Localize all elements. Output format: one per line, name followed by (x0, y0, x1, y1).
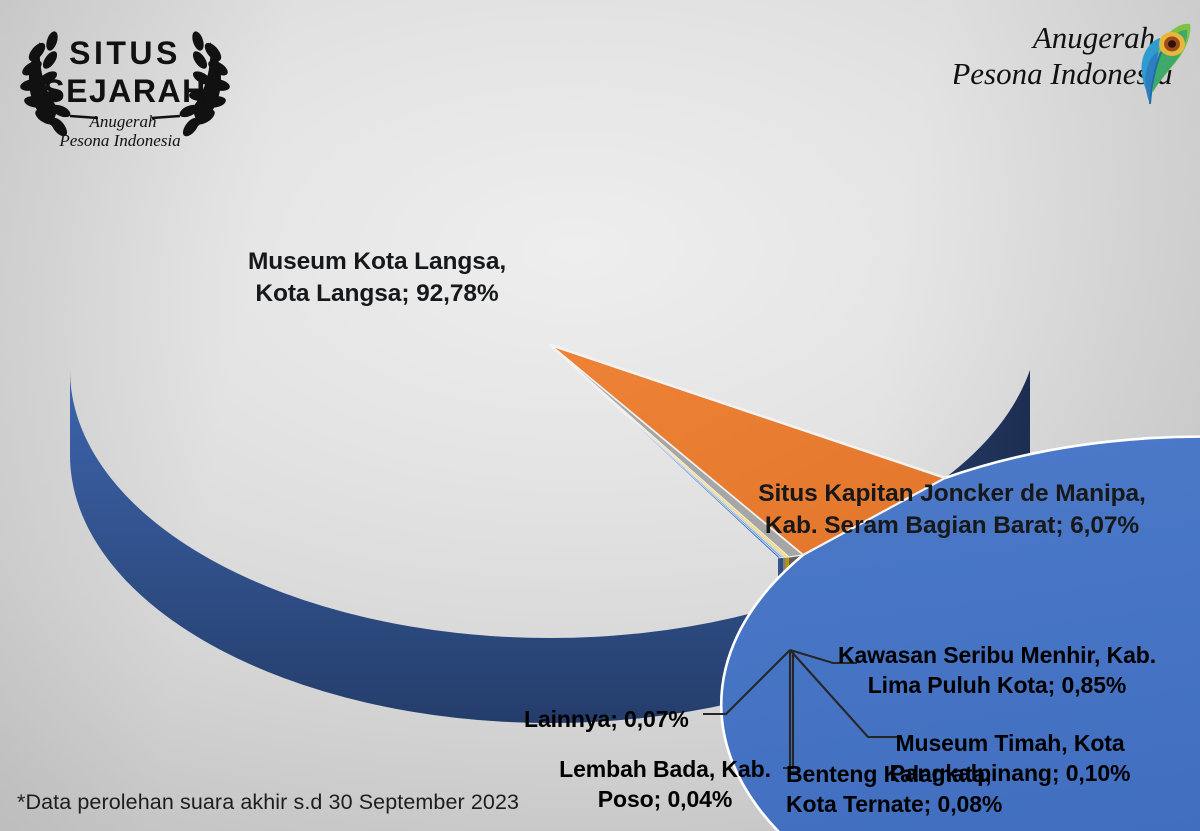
data-label-lembah-bada: Lembah Bada, Kab. Poso; 0,04% (545, 755, 785, 815)
logo-script-1: Anugerah (88, 112, 156, 131)
apl-script-2: Pesona Indonesia (954, 56, 1173, 91)
situs-sejarah-logo: SITUS SEJARAH Anugerah Pesona Indonesia (10, 8, 240, 153)
anugerah-pesona-indonesia-logo: Anugerah Pesona Indonesia (954, 4, 1194, 112)
data-label-lainnya: Lainnya; 0,07% (524, 705, 724, 735)
logo-script-2: Pesona Indonesia (58, 131, 180, 150)
apl-script-1: Anugerah (1031, 20, 1155, 55)
logo-line-2: SEJARAH (43, 73, 206, 109)
logo-line-1: SITUS (69, 35, 181, 71)
data-label-benteng-kalamata: Benteng Kalamata, Kota Ternate; 0,08% (786, 760, 1026, 820)
chart-canvas: SITUS SEJARAH Anugerah Pesona Indonesia … (0, 0, 1200, 831)
footnote-text: *Data perolehan suara akhir s.d 30 Septe… (17, 790, 519, 815)
data-label-situs-kapitan-joncker: Situs Kapitan Joncker de Manipa, Kab. Se… (742, 478, 1162, 542)
data-label-museum-kota-langsa: Museum Kota Langsa, Kota Langsa; 92,78% (212, 246, 542, 310)
data-label-kawasan-seribu-menhir: Kawasan Seribu Menhir, Kab. Lima Puluh K… (832, 641, 1162, 701)
